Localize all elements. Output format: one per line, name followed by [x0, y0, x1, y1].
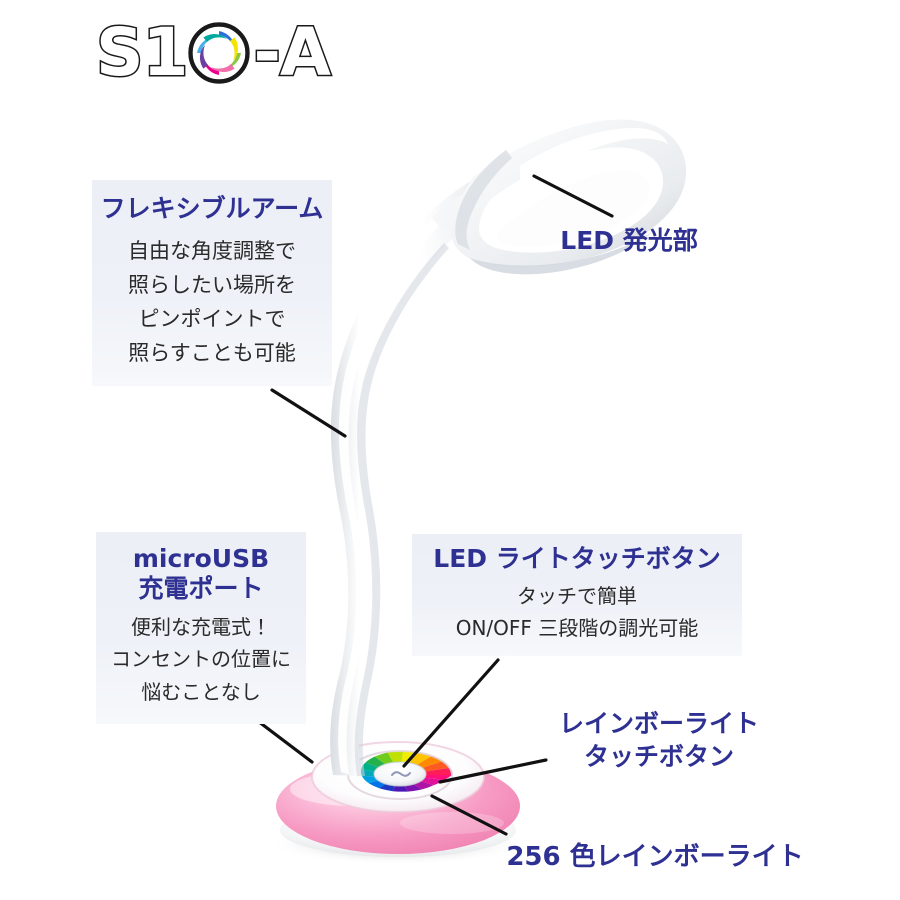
callout-microusb-line-2: コンセントの位置に	[102, 643, 300, 675]
flexible-gooseneck-arm	[330, 177, 494, 776]
infographic-canvas: S1 -A フレキシブルアーム	[0, 0, 900, 900]
logo-prefix: S1	[96, 20, 187, 86]
callout-led-touch-body: タッチで簡単 ON/OFF 三段階の調光可能	[418, 580, 736, 645]
callout-256-heading: 256 色レインボーライト	[502, 842, 808, 873]
callout-rainbow-touch-heading: レインボーライト タッチボタン	[550, 708, 768, 773]
callout-microusb-heading-line-1: microUSB	[102, 544, 300, 574]
callout-led-emitter-heading: LED 発光部	[544, 226, 714, 256]
logo-suffix: -A	[253, 20, 329, 86]
callout-microusb-line-3: 悩むことなし	[102, 676, 300, 708]
color-iris-icon	[188, 22, 250, 84]
callout-flexible-arm-line-2: 照らしたい場所を	[98, 268, 326, 302]
callout-led-touch-button: LED ライトタッチボタン タッチで簡単 ON/OFF 三段階の調光可能	[412, 534, 742, 656]
callout-microusb-port: microUSB 充電ポート 便利な充電式！ コンセントの位置に 悩むことなし	[96, 532, 306, 724]
product-logo: S1 -A	[96, 16, 330, 90]
callout-flexible-arm-body: 自由な角度調整で 照らしたい場所を ピンポイントで 照らすことも可能	[98, 234, 326, 370]
callout-led-emitter: LED 発光部	[540, 222, 718, 260]
callout-microusb-heading-line-2: 充電ポート	[102, 574, 300, 604]
callout-microusb-body: 便利な充電式！ コンセントの位置に 悩むことなし	[102, 611, 300, 708]
callout-flexible-arm-line-1: 自由な角度調整で	[98, 234, 326, 268]
callout-rainbow-touch-line-2: タッチボタン	[550, 741, 768, 774]
callout-256-rainbow-light: 256 色レインボーライト	[500, 840, 810, 875]
callout-flexible-arm: フレキシブルアーム 自由な角度調整で 照らしたい場所を ピンポイントで 照らすこ…	[92, 180, 332, 386]
callout-led-touch-heading: LED ライトタッチボタン	[418, 544, 736, 574]
callout-led-touch-line-2: ON/OFF 三段階の調光可能	[418, 612, 736, 644]
callout-led-touch-line-1: タッチで簡単	[418, 580, 736, 612]
callout-rainbow-touch-button: レインボーライト タッチボタン	[548, 706, 770, 775]
callout-rainbow-touch-line-1: レインボーライト	[550, 708, 768, 741]
callout-microusb-heading: microUSB 充電ポート	[102, 544, 300, 603]
callout-flexible-arm-line-4: 照らすことも可能	[98, 336, 326, 370]
base-pink-highlight-2	[400, 812, 504, 834]
callout-microusb-line-1: 便利な充電式！	[102, 611, 300, 643]
callout-flexible-arm-line-3: ピンポイントで	[98, 302, 326, 336]
callout-flexible-arm-heading: フレキシブルアーム	[98, 194, 326, 224]
